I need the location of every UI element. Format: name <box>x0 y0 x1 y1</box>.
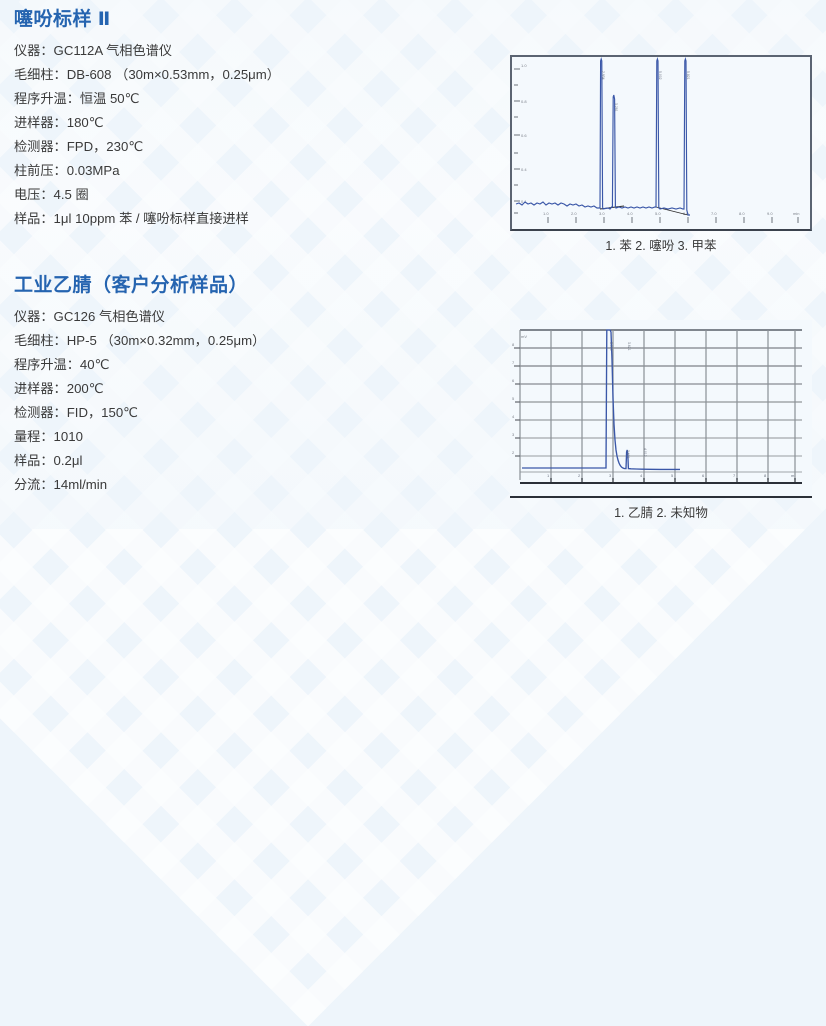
x-axis-ticks <box>548 217 798 223</box>
section-thiophene: 噻吩标样 Ⅱ 仪器：GC112A 气相色谱仪 毛细柱：DB-608 （30m×0… <box>14 10 280 231</box>
chart-caption: 1. 乙腈 2. 未知物 <box>510 502 812 521</box>
spec-item: 检测器：FPD，230℃ <box>14 135 280 159</box>
svg-text:6: 6 <box>512 378 515 383</box>
svg-text:4: 4 <box>640 473 643 478</box>
svg-text:5.0: 5.0 <box>655 211 661 216</box>
svg-text:2.934: 2.934 <box>601 71 605 80</box>
spec-item: 仪器：GC126 气相色谱仪 <box>14 305 265 329</box>
svg-text:0.8: 0.8 <box>521 99 527 104</box>
svg-text:4.0: 4.0 <box>627 211 633 216</box>
spec-item: 分流：14ml/min <box>14 473 265 497</box>
x-axis-labels: 1.0 2.0 3.0 4.0 5.0 6.0 7.0 8.0 9.0 min <box>543 211 799 216</box>
x-axis-labels: 1 2 3 4 5 6 7 8 m <box>547 473 795 478</box>
spec-item: 进样器：200℃ <box>14 377 265 401</box>
grid-horizontal <box>520 348 802 472</box>
svg-text:0.4: 0.4 <box>521 167 527 172</box>
svg-text:3: 3 <box>609 473 612 478</box>
svg-text:0.6: 0.6 <box>521 133 527 138</box>
svg-text:3.621: 3.621 <box>627 342 631 351</box>
chart-svg: 1.0 0.8 0.6 0.4 0.1 <box>512 57 810 225</box>
svg-text:7: 7 <box>733 473 736 478</box>
grid-vertical <box>520 330 795 480</box>
spec-item: 毛细柱：HP-5 （30m×0.32mm，0.25μm） <box>14 329 265 353</box>
svg-text:3.621: 3.621 <box>626 450 630 459</box>
svg-text:2: 2 <box>578 473 581 478</box>
spec-item: 程序升温：恒温 50℃ <box>14 87 280 111</box>
spec-item: 程序升温：40℃ <box>14 353 265 377</box>
svg-text:6: 6 <box>702 473 705 478</box>
svg-text:2: 2 <box>512 450 515 455</box>
chart-plot-area: mV 8 7 6 5 4 3 2 <box>510 320 812 498</box>
y-axis-ticks <box>514 69 520 213</box>
svg-text:5.821: 5.821 <box>686 71 690 80</box>
svg-text:1: 1 <box>547 473 550 478</box>
chromatogram-trace <box>516 59 690 215</box>
svg-text:3: 3 <box>512 432 515 437</box>
spec-item: 仪器：GC112A 气相色谱仪 <box>14 39 280 63</box>
chromatogram-thiophene: 1.0 0.8 0.6 0.4 0.1 <box>510 55 812 254</box>
svg-text:4.012: 4.012 <box>643 448 647 457</box>
svg-text:8: 8 <box>764 473 767 478</box>
section-title: 工业乙腈（客户分析样品） <box>14 276 265 295</box>
spec-item: 样品：1μl 10ppm 苯 / 噻吩标样直接进样 <box>14 207 280 231</box>
section-title: 噻吩标样 Ⅱ <box>14 10 280 29</box>
svg-text:3.0: 3.0 <box>599 211 605 216</box>
chromatogram-acetonitrile: mV 8 7 6 5 4 3 2 <box>510 320 812 521</box>
spec-item: 量程：1010 <box>14 425 265 449</box>
svg-text:5: 5 <box>671 473 674 478</box>
spec-item: 电压：4.5 圈 <box>14 183 280 207</box>
svg-text:7.0: 7.0 <box>711 211 717 216</box>
svg-text:min: min <box>793 211 799 216</box>
chromatogram-trace <box>522 330 680 469</box>
chart-svg: mV 8 7 6 5 4 3 2 <box>510 320 810 494</box>
svg-text:9.0: 9.0 <box>767 211 773 216</box>
svg-text:mV: mV <box>521 334 527 339</box>
svg-text:7: 7 <box>512 360 515 365</box>
spec-list: 仪器：GC112A 气相色谱仪 毛细柱：DB-608 （30m×0.53mm，0… <box>14 39 280 231</box>
peak-labels: 2.934 3.281 5.002 5.821 <box>601 71 690 112</box>
y-axis-labels: 1.0 0.8 0.6 0.4 0.1 <box>521 63 527 204</box>
chart-caption: 1. 苯 2. 噻吩 3. 甲苯 <box>510 235 812 254</box>
spec-list: 仪器：GC126 气相色谱仪 毛细柱：HP-5 （30m×0.32mm，0.25… <box>14 305 265 497</box>
spec-item: 柱前压：0.03MPa <box>14 159 280 183</box>
spec-item: 毛细柱：DB-608 （30m×0.53mm，0.25μm） <box>14 63 280 87</box>
svg-text:3.281: 3.281 <box>614 103 618 112</box>
spec-item: 进样器：180℃ <box>14 111 280 135</box>
section-acetonitrile: 工业乙腈（客户分析样品） 仪器：GC126 气相色谱仪 毛细柱：HP-5 （30… <box>14 276 265 497</box>
svg-text:3.055: 3.055 <box>609 342 613 351</box>
svg-text:1.0: 1.0 <box>543 211 549 216</box>
svg-text:5.002: 5.002 <box>658 71 662 80</box>
svg-text:8.0: 8.0 <box>739 211 745 216</box>
chart-plot-area: 1.0 0.8 0.6 0.4 0.1 <box>510 55 812 231</box>
svg-text:5: 5 <box>512 396 515 401</box>
svg-text:8: 8 <box>512 342 515 347</box>
page-root: 噻吩标样 Ⅱ 仪器：GC112A 气相色谱仪 毛细柱：DB-608 （30m×0… <box>0 0 826 529</box>
y-axis-ticks <box>514 348 520 456</box>
svg-text:2.0: 2.0 <box>571 211 577 216</box>
svg-text:4: 4 <box>512 414 515 419</box>
spec-item: 样品：0.2μl <box>14 449 265 473</box>
spec-item: 检测器：FID，150℃ <box>14 401 265 425</box>
svg-text:1.0: 1.0 <box>521 63 527 68</box>
